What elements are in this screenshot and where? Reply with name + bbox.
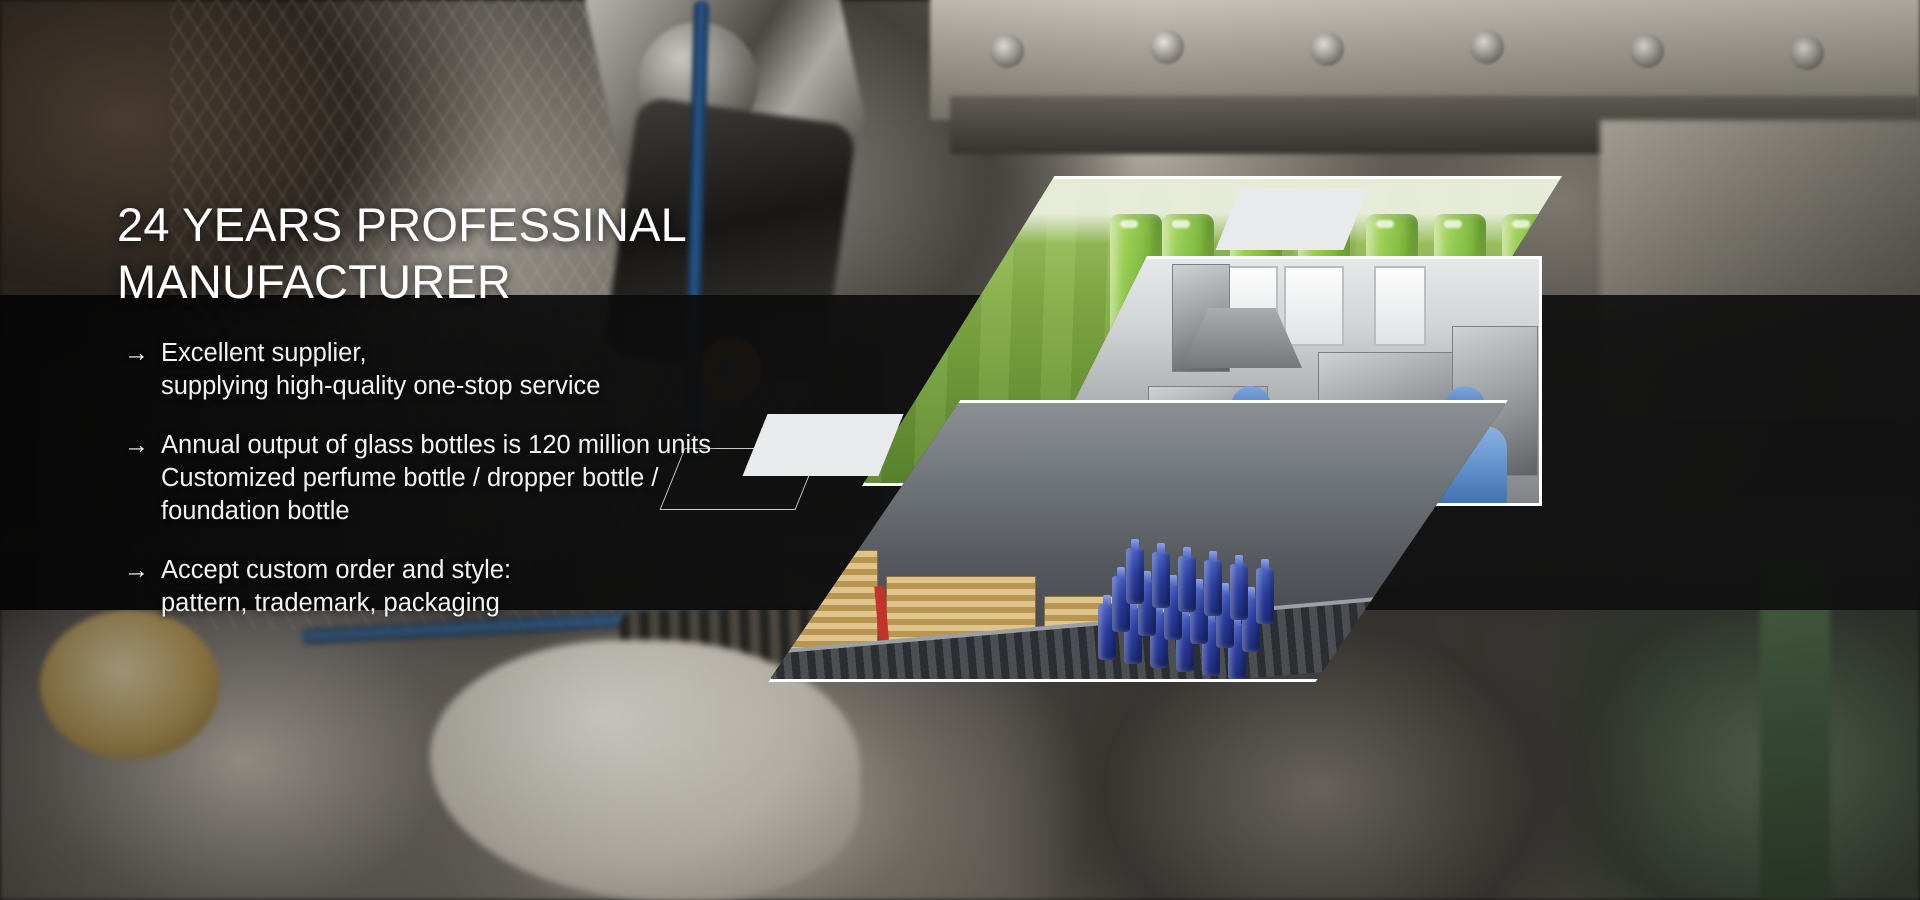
green-post-right (1760, 560, 1830, 900)
arrow-right-icon: → (117, 554, 161, 586)
list-item: → Annual output of glass bottles is 120 … (117, 429, 737, 528)
copy-block: 24 YEARS PROFESSINAL MANUFACTURER → Exce… (117, 196, 737, 620)
page-title: 24 YEARS PROFESSINAL MANUFACTURER (117, 196, 737, 311)
bullet-text: Annual output of glass bottles is 120 mi… (161, 429, 711, 528)
bullet-text: Accept custom order and style: pattern, … (161, 554, 511, 620)
parallelogram-filled-accent (742, 414, 903, 476)
frame-bolt-icon (1310, 32, 1344, 66)
frame-bolt-icon (1790, 36, 1824, 70)
list-item: → Excellent supplier, supplying high-qua… (117, 337, 737, 403)
arrow-right-icon: → (117, 429, 161, 461)
amber-roll-foreground (40, 610, 220, 760)
arrow-right-icon: → (117, 337, 161, 369)
bullet-text: Excellent supplier, supplying high-quali… (161, 337, 600, 403)
frame-bolt-icon (1470, 30, 1504, 64)
bullet-list: → Excellent supplier, supplying high-qua… (117, 337, 737, 620)
frame-bolt-icon (990, 34, 1024, 68)
frame-bolt-icon (1630, 34, 1664, 68)
parallelogram-filled-accent (1215, 188, 1368, 250)
banner-stage: 24 YEARS PROFESSINAL MANUFACTURER → Exce… (0, 0, 1920, 900)
frame-bolt-icon (1150, 30, 1184, 64)
list-item: → Accept custom order and style: pattern… (117, 554, 737, 620)
